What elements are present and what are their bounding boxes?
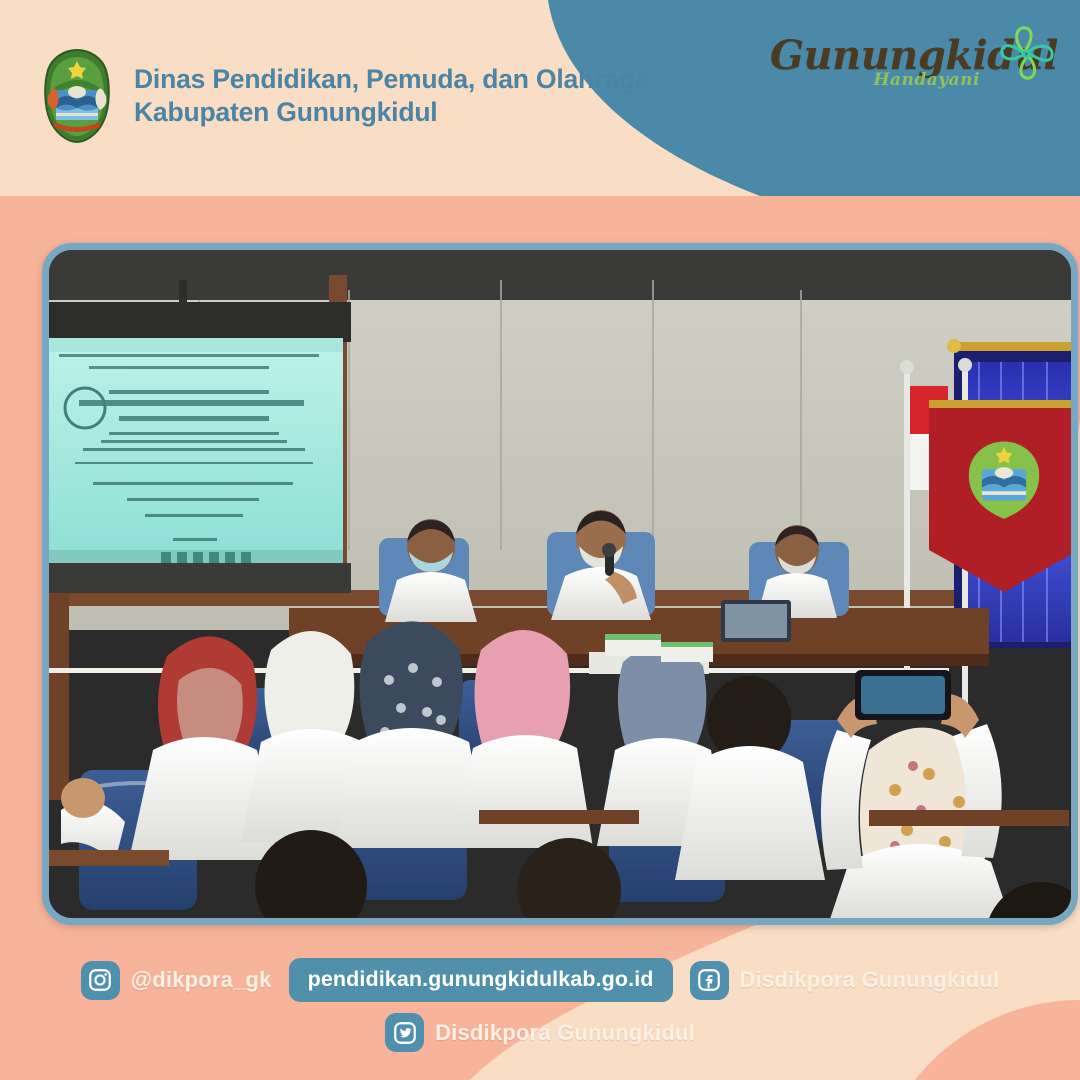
facebook-icon[interactable] [690,961,729,1000]
footer-social-bar: @dikpora_gk pendidikan.gunungkidulkab.go… [0,958,1080,1052]
instagram-label: @dikpora_gk [131,967,272,993]
instagram-icon[interactable] [81,961,120,1000]
header: Dinas Pendidikan, Pemuda, dan Olahraga K… [40,48,649,144]
facebook-handle[interactable]: Disdikpora Gunungkidul [690,961,1000,1000]
event-photo [49,250,1071,918]
instagram-handle[interactable]: @dikpora_gk [81,961,272,1000]
website-url-pill[interactable]: pendidikan.gunungkidulkab.go.id [289,958,673,1002]
footer-row-primary: @dikpora_gk pendidikan.gunungkidulkab.go… [81,958,1000,1002]
green-butterfly-ornament-icon [990,12,1062,84]
gunungkidul-wordmark: Gunungkidul Handayani [770,36,1058,90]
social-media-poster: Dinas Pendidikan, Pemuda, dan Olahraga K… [0,0,1080,1080]
gunungkidul-regency-crest-icon [40,48,114,144]
page-title: Dinas Pendidikan, Pemuda, dan Olahraga K… [134,63,649,130]
twitter-label: Disdikpora Gunungkidul [435,1020,695,1046]
twitter-handle[interactable]: Disdikpora Gunungkidul [385,1013,695,1052]
event-photo-frame [42,243,1078,925]
org-title-line-1: Dinas Pendidikan, Pemuda, dan Olahraga [134,64,649,94]
org-title-line-2: Kabupaten Gunungkidul [134,96,649,129]
facebook-label: Disdikpora Gunungkidul [740,967,1000,993]
twitter-icon[interactable] [385,1013,424,1052]
footer-row-secondary: Disdikpora Gunungkidul [385,1013,695,1052]
